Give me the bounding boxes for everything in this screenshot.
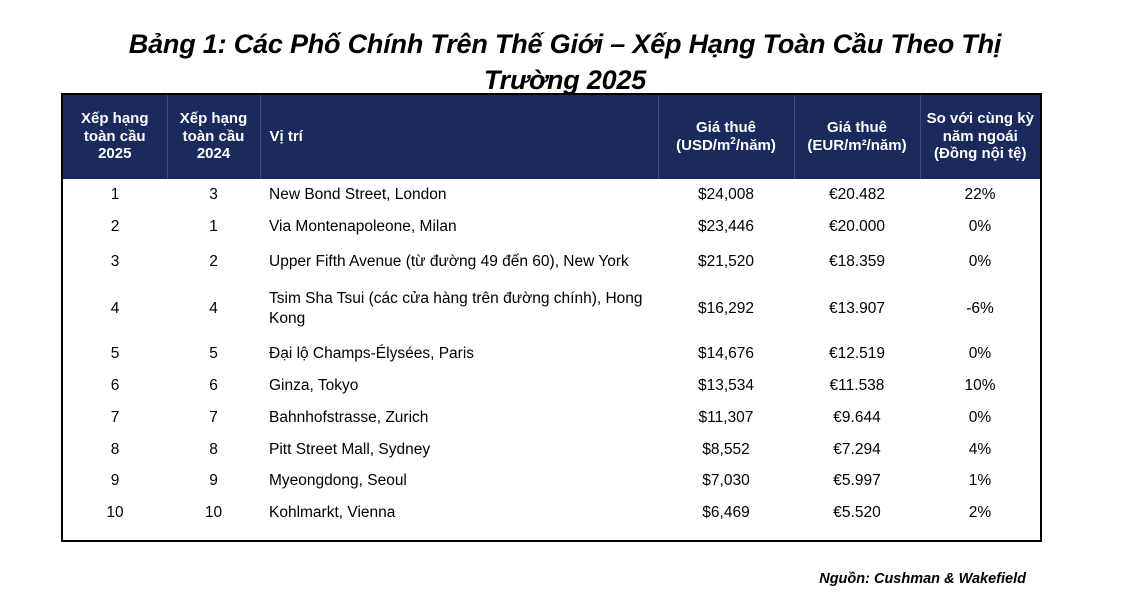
cell-location: Via Montenapoleone, Milan [260,211,658,243]
cell-rent-eur: €9.644 [794,402,920,434]
table-row: 44Tsim Sha Tsui (các cửa hàng trên đường… [63,280,1040,338]
column-header-location-label: Vị trí [270,128,303,145]
table-row: 55Đại lộ Champs-Élysées, Paris$14,676€12… [63,338,1040,370]
column-header-rank-2024-label: Xếp hạng toàn cầu 2024 [180,110,248,162]
cell-rank-2024: 8 [167,434,260,466]
table-row: 21Via Montenapoleone, Milan$23,446€20.00… [63,211,1040,243]
cell-rank-2024: 3 [167,179,260,211]
cell-rank-2024: 2 [167,243,260,281]
cell-yoy: 2% [920,497,1040,529]
column-header-yoy: So với cùng kỳ năm ngoái (Đồng nội tệ) [920,95,1040,179]
column-header-rent-usd-unit-prefix: (USD/m [676,137,730,154]
cell-rank-2024: 4 [167,280,260,338]
ranking-table: Xếp hạng toàn cầu 2025 Xếp hạng toàn cầu… [63,95,1040,593]
table-row: 13New Bond Street, London$24,008€20.4822… [63,179,1040,211]
cell-yoy: 0% [920,402,1040,434]
column-header-rent-eur: Giá thuê (EUR/m²/năm) [794,95,920,179]
cell-rank-2025: 6 [63,370,167,402]
table-row: 99Myeongdong, Seoul$7,030€5.9971% [63,465,1040,497]
cell-rank-2025: 8 [63,434,167,466]
cell-rent-eur: €18.359 [794,243,920,281]
cell-rank-2025: 2 [63,211,167,243]
cell-location: Kohlmarkt, Vienna [260,497,658,529]
table-row: 32Upper Fifth Avenue (từ đường 49 đến 60… [63,243,1040,281]
cell-location: Upper Fifth Avenue (từ đường 49 đến 60),… [260,243,658,281]
cell-yoy: 1% [920,465,1040,497]
cell-location: Đại lộ Champs-Élysées, Paris [260,338,658,370]
source-row: Nguồn: Cushman & Wakefield [63,529,1040,593]
cell-rank-2024: 6 [167,370,260,402]
ranking-table-container: Xếp hạng toàn cầu 2025 Xếp hạng toàn cầu… [61,93,1042,542]
column-header-rent-usd-line1: Giá thuê [696,119,756,136]
page-title: Bảng 1: Các Phố Chính Trên Thế Giới – Xế… [80,26,1050,99]
table-row: 77Bahnhofstrasse, Zurich$11,307€9.6440% [63,402,1040,434]
cell-rank-2024: 7 [167,402,260,434]
cell-location: Pitt Street Mall, Sydney [260,434,658,466]
cell-rank-2025: 9 [63,465,167,497]
table-row: 66Ginza, Tokyo$13,534€11.53810% [63,370,1040,402]
document-page: Bảng 1: Các Phố Chính Trên Thế Giới – Xế… [0,0,1129,577]
column-header-rank-2025-label: Xếp hạng toàn cầu 2025 [81,110,149,162]
column-header-rent-usd-unit-suffix: /năm) [736,137,776,154]
cell-yoy: 0% [920,338,1040,370]
cell-rank-2024: 10 [167,497,260,529]
column-header-rent-usd: Giá thuê (USD/m2/năm) [658,95,794,179]
cell-rent-eur: €7.294 [794,434,920,466]
cell-yoy: 22% [920,179,1040,211]
cell-rank-2024: 5 [167,338,260,370]
cell-rent-eur: €12.519 [794,338,920,370]
column-header-rent-eur-line2: (EUR/m²/năm) [807,137,906,154]
cell-rent-eur: €20.482 [794,179,920,211]
cell-rank-2025: 1 [63,179,167,211]
cell-yoy: 10% [920,370,1040,402]
table-body: 13New Bond Street, London$24,008€20.4822… [63,179,1040,529]
cell-rent-usd: $8,552 [658,434,794,466]
cell-rank-2025: 10 [63,497,167,529]
column-header-location: Vị trí [260,95,658,179]
cell-rent-usd: $13,534 [658,370,794,402]
table-header-row: Xếp hạng toàn cầu 2025 Xếp hạng toàn cầu… [63,95,1040,179]
table-header: Xếp hạng toàn cầu 2025 Xếp hạng toàn cầu… [63,95,1040,179]
cell-rank-2025: 3 [63,243,167,281]
cell-rank-2025: 4 [63,280,167,338]
cell-location: New Bond Street, London [260,179,658,211]
table-row: 1010Kohlmarkt, Vienna$6,469€5.5202% [63,497,1040,529]
table-footer: Nguồn: Cushman & Wakefield [63,529,1040,593]
source-note: Nguồn: Cushman & Wakefield [63,529,1040,593]
cell-rank-2024: 9 [167,465,260,497]
cell-rent-usd: $11,307 [658,402,794,434]
cell-location: Tsim Sha Tsui (các cửa hàng trên đường c… [260,280,658,338]
cell-rent-eur: €5.997 [794,465,920,497]
cell-rent-eur: €13.907 [794,280,920,338]
cell-rank-2025: 7 [63,402,167,434]
cell-rank-2024: 1 [167,211,260,243]
cell-rent-usd: $23,446 [658,211,794,243]
cell-rent-usd: $21,520 [658,243,794,281]
cell-rent-usd: $6,469 [658,497,794,529]
cell-rent-usd: $14,676 [658,338,794,370]
cell-location: Bahnhofstrasse, Zurich [260,402,658,434]
column-header-rank-2024: Xếp hạng toàn cầu 2024 [167,95,260,179]
cell-rent-eur: €5.520 [794,497,920,529]
cell-location: Ginza, Tokyo [260,370,658,402]
cell-location: Myeongdong, Seoul [260,465,658,497]
cell-rank-2025: 5 [63,338,167,370]
cell-yoy: -6% [920,280,1040,338]
cell-yoy: 0% [920,211,1040,243]
column-header-yoy-label: So với cùng kỳ năm ngoái (Đồng nội tệ) [927,110,1034,162]
cell-yoy: 0% [920,243,1040,281]
table-row: 88Pitt Street Mall, Sydney$8,552€7.2944% [63,434,1040,466]
cell-rent-usd: $16,292 [658,280,794,338]
cell-rent-usd: $7,030 [658,465,794,497]
column-header-rent-eur-line1: Giá thuê [827,119,887,136]
cell-rent-eur: €11.538 [794,370,920,402]
cell-rent-usd: $24,008 [658,179,794,211]
column-header-rank-2025: Xếp hạng toàn cầu 2025 [63,95,167,179]
cell-rent-eur: €20.000 [794,211,920,243]
cell-yoy: 4% [920,434,1040,466]
